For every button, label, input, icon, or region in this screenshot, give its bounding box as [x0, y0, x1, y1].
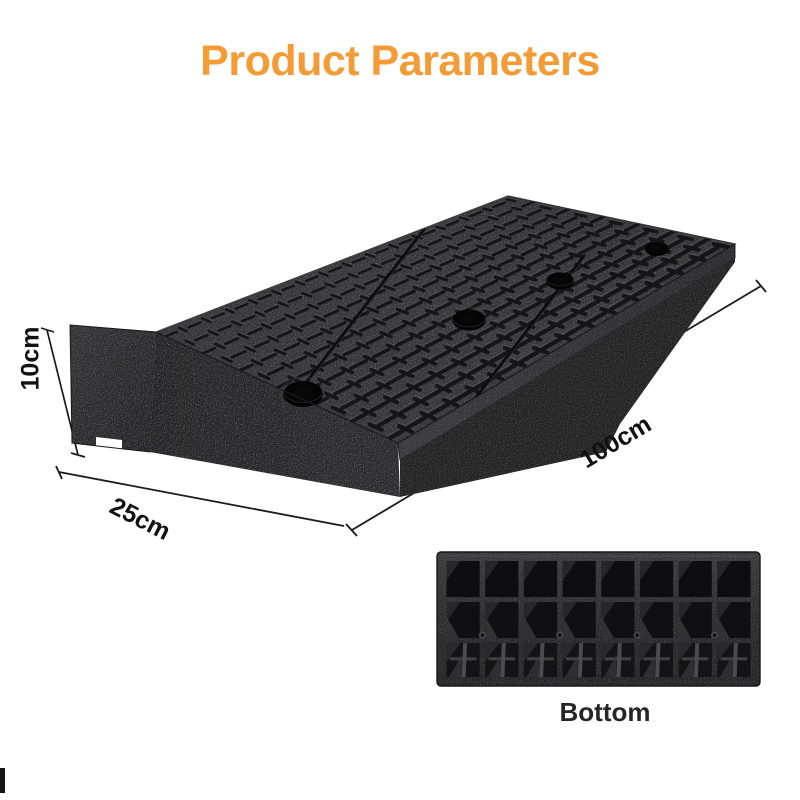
- bottom-cell: [717, 643, 750, 677]
- bottom-cell: [447, 602, 480, 638]
- dimension-label-height: 10cm: [17, 319, 46, 399]
- bottom-cell: [640, 561, 673, 597]
- bottom-cell: [447, 561, 480, 597]
- bottom-cell: [679, 643, 712, 677]
- dimension-cap-length-start: [346, 524, 357, 536]
- bottom-view-part: [437, 552, 760, 686]
- bottom-cell: [601, 561, 634, 597]
- dimension-cap-length-end: [756, 280, 766, 292]
- product-parameters-figure: Product Parameters: [0, 0, 800, 800]
- drain-hole: [283, 381, 323, 407]
- drain-hole: [546, 273, 574, 290]
- bottom-cell: [679, 602, 712, 638]
- bottom-cell: [524, 602, 557, 638]
- ramp-body: [70, 196, 735, 497]
- bottom-cell: [485, 561, 518, 597]
- ramp-left-end-face: [70, 325, 156, 452]
- bottom-cell: [679, 561, 712, 597]
- bottom-cell: [485, 643, 518, 677]
- bottom-view-label: Bottom: [505, 697, 705, 728]
- bottom-cell: [563, 561, 596, 597]
- bottom-cell: [717, 561, 750, 597]
- bottom-cell: [640, 643, 673, 677]
- bottom-cell: [601, 602, 634, 638]
- product-illustration: [0, 0, 800, 800]
- bottom-cell: [524, 643, 557, 677]
- bottom-cell: [524, 561, 557, 597]
- bottom-cell: [601, 643, 634, 677]
- dimension-line-depth: [59, 472, 344, 526]
- corner-tick-mark: [0, 768, 5, 793]
- drain-hole: [645, 242, 669, 256]
- bottom-cell: [447, 643, 480, 677]
- bottom-cell: [563, 643, 596, 677]
